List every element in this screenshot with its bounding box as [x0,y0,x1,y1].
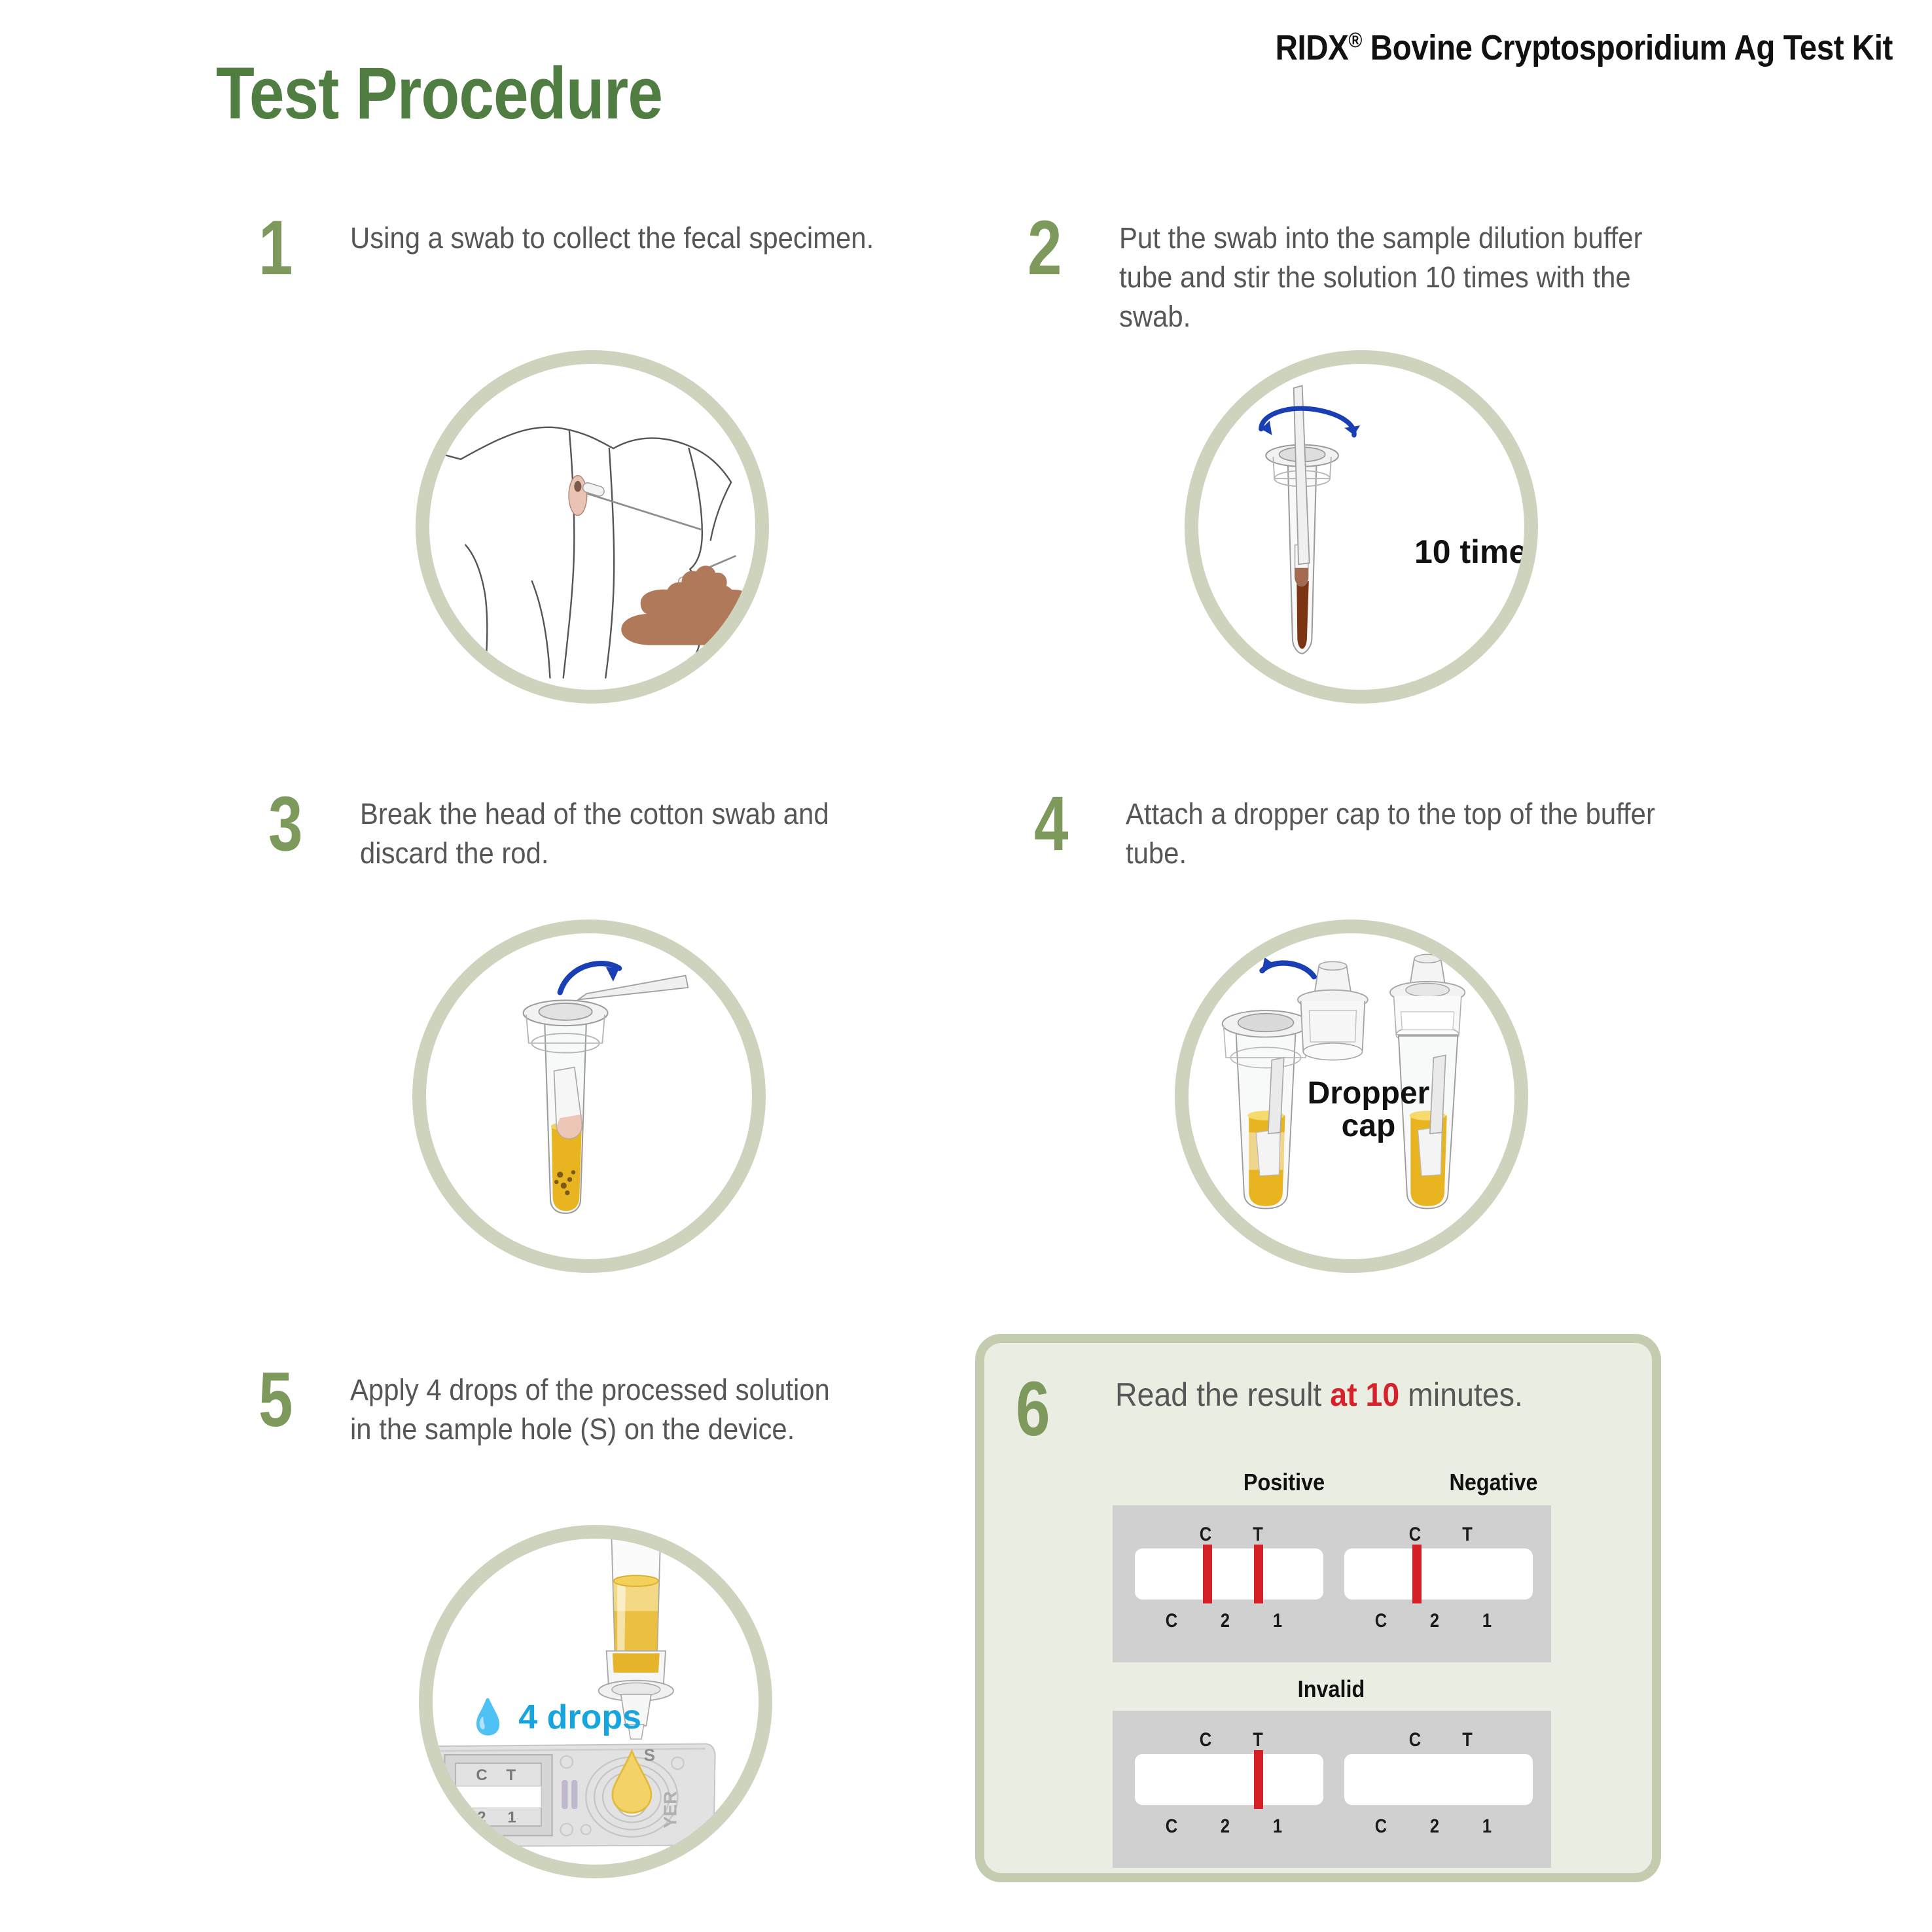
cassette-invalid-b: C T C 2 1 [1342,1711,1545,1868]
result-row-1: C T C 2 1 C T C 2 1 [1113,1505,1551,1662]
cassette-invalid-b-bot-2: 2 [1423,1816,1446,1838]
step-6-title: Read the result at 10 minutes. [1115,1376,1523,1414]
cassette-negative-top-t: T [1456,1524,1478,1546]
cassette-positive-window [1135,1548,1323,1600]
cassette-invalid-b-bot-1: 1 [1476,1816,1498,1838]
step-1: 1 Using a swab to collect the fecal spec… [259,209,952,759]
cow-rectal-swab-icon [429,364,755,690]
step-5: 5 Apply 4 drops of the processed solutio… [259,1361,952,1898]
step-5-number: 5 [259,1361,293,1439]
cassette-negative-window [1344,1548,1533,1600]
kit-title-prefix: RIDX [1276,28,1349,67]
step-4-badge-line1: Dropper [1303,1077,1434,1110]
swab-inserted [582,482,702,530]
step-6-title-highlight: at 10 [1330,1376,1399,1413]
swab-stirring-tube-icon [1198,364,1524,690]
test-device: C T 2 1 S [433,1744,715,1847]
step-6-panel: 6 Read the result at 10 minutes. Positiv… [975,1334,1661,1882]
cassette-positive-bot-c: C [1160,1610,1183,1632]
device-window-label-t: T [507,1766,516,1784]
cassette-invalid-a: C T C 2 1 [1132,1711,1335,1868]
cassette-invalid-b-window [1344,1754,1533,1805]
cassette-negative-band-c [1412,1545,1422,1603]
step-5-badge-label: 4 drops [518,1698,641,1736]
cassette-positive-bot-1: 1 [1266,1610,1289,1632]
device-sample-hole-label: S [644,1746,655,1764]
dropper-cap-floating [1298,961,1368,1060]
step-4-badge-line2: cap [1303,1110,1434,1143]
step-6-title-before: Read the result [1115,1376,1330,1413]
step-4-text: Attach a dropper cap to the top of the b… [1126,795,1673,873]
cassette-negative-bot-2: 2 [1423,1610,1446,1632]
cassette-invalid-a-band-t [1254,1750,1263,1809]
cassette-positive-band-t [1254,1545,1263,1603]
cassette-positive-top-c: C [1194,1524,1217,1546]
step-4-badge: Dropper cap [1303,1077,1434,1143]
step-2-illustration: 10 times [1185,350,1538,704]
step-1-number: 1 [259,209,293,287]
cassette-positive: C T C 2 1 [1132,1505,1335,1662]
result-label-positive: Positive [1225,1469,1343,1496]
step-5-badge: 💧 4 drops [467,1697,641,1737]
page-title: Test Procedure [216,51,662,135]
step-6-number: 6 [1016,1370,1050,1448]
result-row-2: C T C 2 1 C T C 2 1 [1113,1711,1551,1868]
cassette-invalid-b-bot-c: C [1370,1816,1392,1838]
step-3-illustration [412,920,766,1273]
water-drop-icon: 💧 [467,1698,509,1736]
step-1-illustration [416,350,769,704]
step-4: 4 Attach a dropper cap to the top of the… [1034,785,1728,1348]
cassette-positive-band-c [1203,1545,1212,1603]
kit-title: RIDX® Bovine Cryptosporidium Ag Test Kit [1276,27,1893,68]
step-3-text: Break the head of the cotton swab and di… [360,795,908,873]
kit-title-rest: Bovine Cryptosporidium Ag Test Kit [1362,28,1893,67]
cassette-invalid-a-bot-1: 1 [1266,1816,1289,1838]
cassette-invalid-a-top-c: C [1194,1729,1217,1751]
cassette-negative-bot-c: C [1370,1610,1392,1632]
device-window-label-2: 2 [477,1808,486,1826]
step-5-text: Apply 4 drops of the processed solution … [350,1370,850,1449]
open-buffer-tube [1223,1011,1310,1208]
step-2: 2 Put the swab into the sample dilution … [1028,209,1721,759]
step-1-text: Using a swab to collect the fecal specim… [350,219,885,258]
step-6-title-after: minutes. [1399,1376,1523,1413]
result-label-negative: Negative [1435,1469,1552,1496]
cassette-invalid-b-top-c: C [1404,1729,1426,1751]
cassette-invalid-a-bot-c: C [1160,1816,1183,1838]
cassette-invalid-a-window [1135,1754,1323,1805]
step-2-badge: 10 times [1414,533,1538,571]
device-brand-label: YER [660,1791,681,1829]
test-procedure-page: RIDX® Bovine Cryptosporidium Ag Test Kit… [0,0,1932,1932]
break-swab-head-icon [426,933,752,1259]
cassette-invalid-a-top-t: T [1247,1729,1269,1751]
step-2-number: 2 [1028,209,1062,287]
cassette-invalid-a-bot-2: 2 [1214,1816,1236,1838]
cassette-positive-top-t: T [1247,1524,1269,1546]
step-2-text: Put the swab into the sample dilution bu… [1119,219,1655,336]
cassette-negative: C T C 2 1 [1342,1505,1545,1662]
step-4-number: 4 [1034,785,1069,863]
cassette-positive-bot-2: 2 [1214,1610,1236,1632]
result-label-invalid: Invalid [1272,1675,1390,1703]
cassette-negative-top-c: C [1404,1524,1426,1546]
cassette-negative-bot-1: 1 [1476,1610,1498,1632]
step-5-illustration: C T 2 1 S [419,1525,772,1878]
step-4-illustration: Dropper cap [1175,920,1528,1273]
registered-trademark-icon: ® [1348,28,1362,52]
cassette-invalid-b-top-t: T [1456,1729,1478,1751]
device-window-label-1: 1 [507,1808,516,1826]
step-3-number: 3 [268,785,303,863]
rotation-arrow-icon [1261,408,1354,435]
step-3: 3 Break the head of the cotton swab and … [268,785,962,1348]
device-window-label-c: C [476,1766,487,1784]
feces-pile-icon [621,565,755,645]
